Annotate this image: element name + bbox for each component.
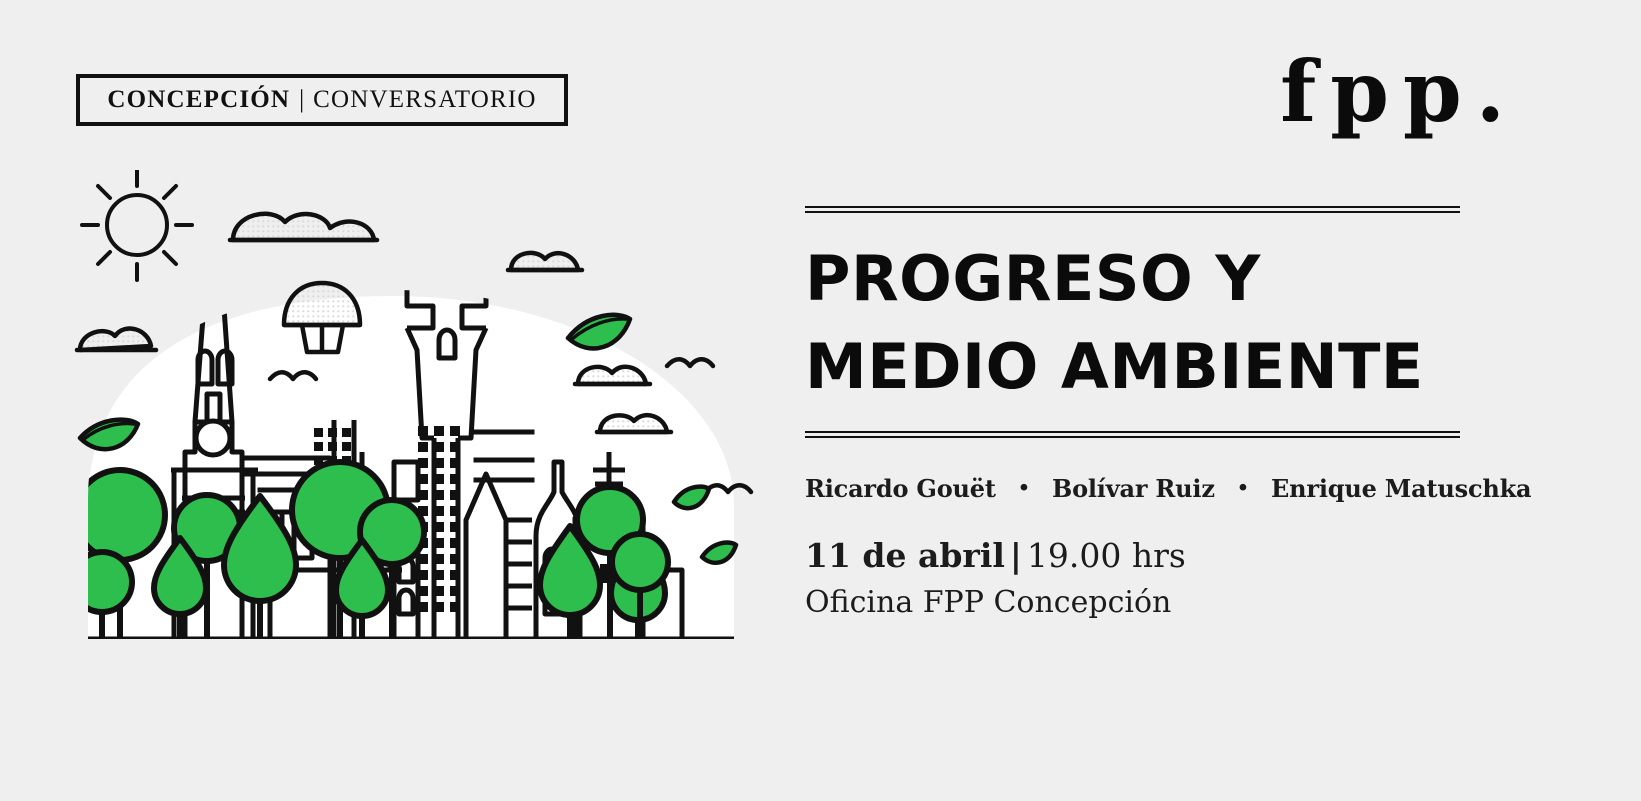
event-venue: Oficina FPP Concepción	[805, 585, 1460, 620]
bird-icon	[667, 359, 713, 366]
title-rule-bottom	[805, 431, 1460, 438]
speaker-name: Ricardo Gouët	[805, 474, 996, 503]
city-and-nature-illustration	[62, 170, 792, 650]
cloud-icon	[230, 214, 377, 240]
title-rule-top	[805, 206, 1460, 213]
event-datetime: 11 de abril|19.00 hrs	[805, 536, 1460, 575]
fpp-logo: fpp.	[1280, 50, 1519, 134]
event-date: 11 de abril	[805, 536, 1005, 575]
poster-canvas: CONCEPCIÓN | CONVERSATORIO fpp. PROGRESO…	[0, 0, 1641, 801]
badge-kind: CONVERSATORIO	[313, 86, 537, 114]
event-badge: CONCEPCIÓN | CONVERSATORIO	[76, 74, 568, 126]
datetime-separator: |	[1010, 536, 1022, 575]
speaker-separator-icon: •	[1237, 477, 1249, 499]
event-time: 19.00 hrs	[1027, 536, 1186, 575]
speaker-name: Enrique Matuschka	[1271, 474, 1531, 503]
page-title: PROGRESO Y MEDIO AMBIENTE	[805, 235, 1460, 411]
cloud-icon	[77, 329, 156, 350]
leaf-icon	[568, 315, 630, 349]
speaker-name: Bolívar Ruiz	[1052, 474, 1215, 503]
badge-city: CONCEPCIÓN	[107, 86, 290, 114]
event-info-column: PROGRESO Y MEDIO AMBIENTE Ricardo Gouët …	[805, 206, 1460, 620]
cloud-icon	[508, 253, 582, 270]
speaker-separator-icon: •	[1018, 477, 1030, 499]
badge-separator: |	[299, 86, 304, 114]
speaker-list: Ricardo Gouët • Bolívar Ruiz • Enrique M…	[805, 474, 1460, 503]
sun-icon	[82, 170, 192, 280]
cloud-icon	[575, 367, 650, 384]
